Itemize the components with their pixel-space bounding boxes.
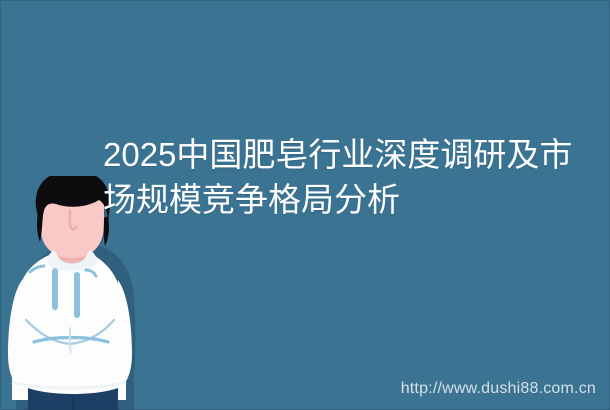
drawstring-left: [52, 268, 58, 310]
poster-canvas: 2025中国肥皂行业深度调研及市场规模竞争格局分析 http://www.dus…: [0, 0, 610, 410]
watermark-url: http://www.dushi88.com.cn: [401, 380, 596, 398]
page-title: 2025中国肥皂行业深度调研及市场规模竞争格局分析: [103, 132, 573, 222]
hoodie-sleeve-left: [8, 280, 24, 388]
drawstring-right: [74, 272, 80, 318]
